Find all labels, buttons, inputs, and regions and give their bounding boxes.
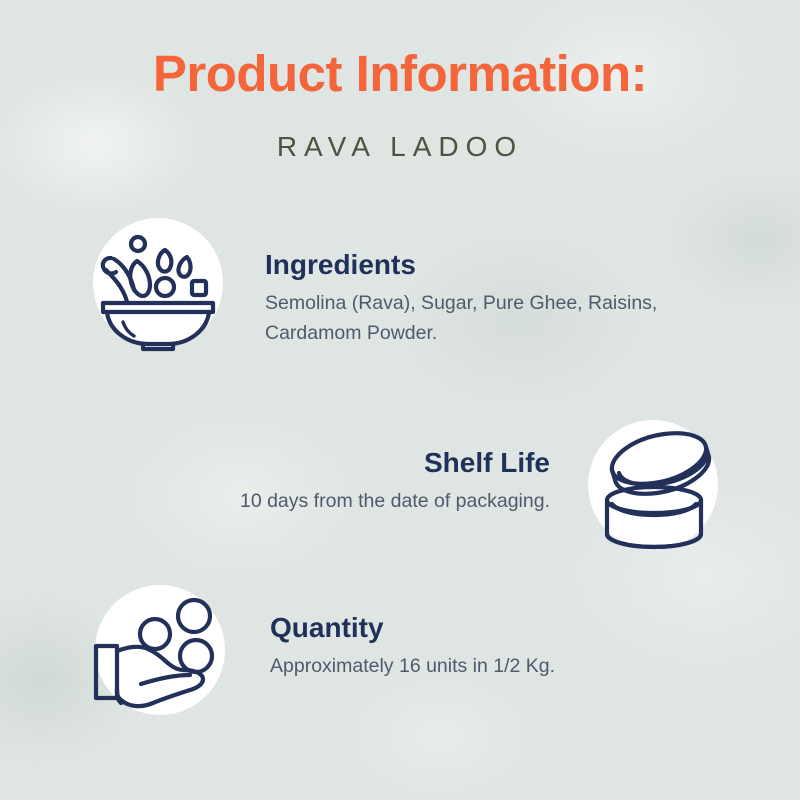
ingredients-heading: Ingredients [265, 250, 685, 281]
quantity-heading: Quantity [270, 613, 700, 644]
section-quantity: Quantity Approximately 16 units in 1/2 K… [270, 613, 700, 681]
product-information-poster: Product Information: RAVA LADOO [0, 0, 800, 800]
hand-holding-ladoos-icon [95, 585, 225, 715]
section-ingredients: Ingredients Semolina (Rava), Sugar, Pure… [265, 250, 685, 348]
quantity-body: Approximately 16 units in 1/2 Kg. [270, 651, 700, 681]
quantity-icon-circle [95, 585, 225, 715]
product-name-subtitle: RAVA LADOO [0, 133, 800, 161]
shelf-life-heading: Shelf Life [130, 448, 550, 479]
ingredients-icon-circle [93, 218, 223, 348]
shelf-life-body: 10 days from the date of packaging. [130, 486, 550, 516]
shelf-life-icon-circle [588, 420, 718, 550]
page-title: Product Information: [0, 48, 800, 99]
section-shelf-life: Shelf Life 10 days from the date of pack… [130, 448, 550, 516]
ingredients-body: Semolina (Rava), Sugar, Pure Ghee, Raisi… [265, 288, 685, 348]
open-container-icon [588, 420, 718, 550]
bowl-of-grains-icon [93, 218, 223, 348]
